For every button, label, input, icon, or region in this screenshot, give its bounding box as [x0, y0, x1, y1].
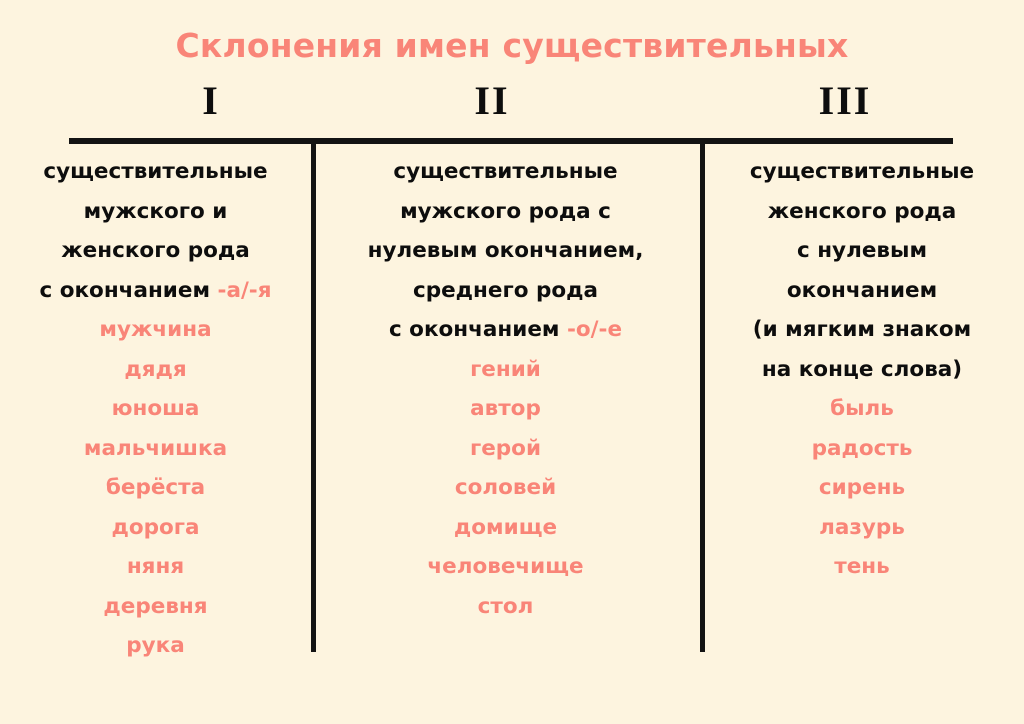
column-2-description-line: среднего рода — [368, 271, 644, 311]
example-word: мужчина — [84, 310, 227, 350]
description-text: существительные — [393, 159, 617, 184]
declension-column-2: существительныемужского рода снулевым ок… — [311, 152, 700, 626]
column-2-description-line: нулевым окончанием, — [368, 231, 644, 271]
column-1-description-line: женского рода — [39, 231, 271, 271]
description-text: с нулевым — [797, 238, 927, 263]
column-3-description-line: существительные — [750, 152, 974, 192]
description-text: (и мягким знаком — [753, 317, 972, 342]
declension-column-1: существительныемужского иженского родас … — [0, 152, 311, 666]
column-3-description-line: с нулевым — [750, 231, 974, 271]
example-word: стол — [427, 587, 583, 627]
example-word: тень — [812, 547, 913, 587]
description-text: с окончанием — [389, 317, 567, 342]
description-text: женского рода — [61, 238, 249, 263]
description-text: мужского и — [84, 199, 228, 224]
example-word: юноша — [84, 389, 227, 429]
example-word: дядя — [84, 350, 227, 390]
highlighted-ending: -а/-я — [218, 278, 272, 303]
description-text: женского рода — [768, 199, 956, 224]
column-3-description-line: женского рода — [750, 192, 974, 232]
example-word: берёста — [84, 468, 227, 508]
column-1-description: существительныемужского иженского родас … — [39, 152, 271, 310]
column-1-examples: мужчинадядяюношамальчишкаберёстадороганя… — [84, 310, 227, 666]
example-word: гений — [427, 350, 583, 390]
description-text: существительные — [43, 159, 267, 184]
highlighted-ending: -о/-е — [567, 317, 622, 342]
example-word: автор — [427, 389, 583, 429]
example-word: сирень — [812, 468, 913, 508]
description-text: нулевым окончанием, — [368, 238, 644, 263]
column-1-description-line: с окончанием -а/-я — [39, 271, 271, 311]
declension-columns: существительныемужского иженского родас … — [0, 152, 1024, 666]
declension-numeral-3: III — [785, 79, 905, 123]
column-2-description-line: с окончанием -о/-е — [368, 310, 644, 350]
column-3-description: существительныеженского родас нулевымоко… — [750, 152, 974, 389]
description-text: среднего рода — [413, 278, 598, 303]
description-text: существительные — [750, 159, 974, 184]
declensions-poster: Склонения имен существительных I II III … — [0, 0, 1024, 724]
description-text: на конце слова) — [762, 357, 962, 382]
example-word: лазурь — [812, 508, 913, 548]
column-2-examples: генийавторгеройсоловейдомищечеловечищест… — [427, 350, 583, 627]
example-word: быль — [812, 389, 913, 429]
declension-column-3: существительныеженского родас нулевымоко… — [700, 152, 1024, 587]
column-3-description-line: на конце слова) — [750, 350, 974, 390]
column-2-description-line: мужского рода с — [368, 192, 644, 232]
example-word: радость — [812, 429, 913, 469]
column-1-description-line: мужского и — [39, 192, 271, 232]
example-word: мальчишка — [84, 429, 227, 469]
column-1-description-line: существительные — [39, 152, 271, 192]
example-word: герой — [427, 429, 583, 469]
example-word: рука — [84, 626, 227, 666]
example-word: человечище — [427, 547, 583, 587]
column-2-description-line: существительные — [368, 152, 644, 192]
description-text: мужского рода с — [400, 199, 611, 224]
example-word: деревня — [84, 587, 227, 627]
page-title: Склонения имен существительных — [0, 26, 1024, 65]
description-text: с окончанием — [39, 278, 217, 303]
declension-numeral-1: I — [151, 79, 271, 123]
column-3-examples: быльрадостьсиреньлазурьтень — [812, 389, 913, 587]
column-3-description-line: окончанием — [750, 271, 974, 311]
description-text: окончанием — [787, 278, 937, 303]
column-2-description: существительныемужского рода снулевым ок… — [368, 152, 644, 350]
example-word: соловей — [427, 468, 583, 508]
example-word: няня — [84, 547, 227, 587]
header-divider-horizontal — [69, 138, 953, 144]
column-3-description-line: (и мягким знаком — [750, 310, 974, 350]
example-word: домище — [427, 508, 583, 548]
declension-numeral-2: II — [432, 79, 552, 123]
example-word: дорога — [84, 508, 227, 548]
